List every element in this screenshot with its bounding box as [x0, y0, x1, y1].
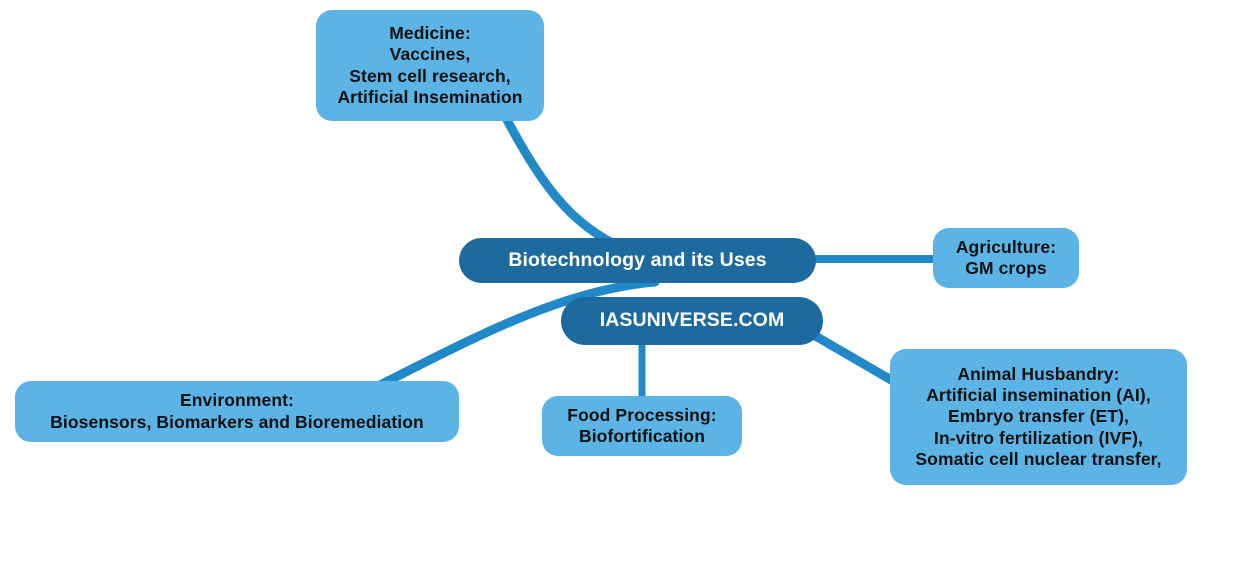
brand-node[interactable]: IASUNIVERSE.COM	[561, 297, 823, 345]
branch-label-medicine: Medicine: Vaccines, Stem cell research, …	[337, 23, 522, 108]
branch-label-environment: Environment: Biosensors, Biomarkers and …	[50, 390, 424, 433]
branch-node-medicine[interactable]: Medicine: Vaccines, Stem cell research, …	[316, 10, 544, 121]
branch-node-animal-husbandry[interactable]: Animal Husbandry: Artificial inseminatio…	[890, 349, 1187, 485]
edge-center-to-medicine	[507, 120, 640, 255]
branch-label-food-processing: Food Processing: Biofortification	[567, 405, 716, 448]
branch-node-food-processing[interactable]: Food Processing: Biofortification	[542, 396, 742, 456]
center-node[interactable]: Biotechnology and its Uses	[459, 238, 816, 283]
center-label: Biotechnology and its Uses	[508, 249, 766, 273]
branch-label-animal-husbandry: Animal Husbandry: Artificial inseminatio…	[915, 364, 1161, 471]
brand-label: IASUNIVERSE.COM	[600, 309, 785, 333]
branch-label-agriculture: Agriculture: GM crops	[956, 237, 1056, 280]
branch-node-agriculture[interactable]: Agriculture: GM crops	[933, 228, 1079, 288]
branch-node-environment[interactable]: Environment: Biosensors, Biomarkers and …	[15, 381, 459, 442]
mind-map-canvas: Medicine: Vaccines, Stem cell research, …	[0, 0, 1237, 565]
